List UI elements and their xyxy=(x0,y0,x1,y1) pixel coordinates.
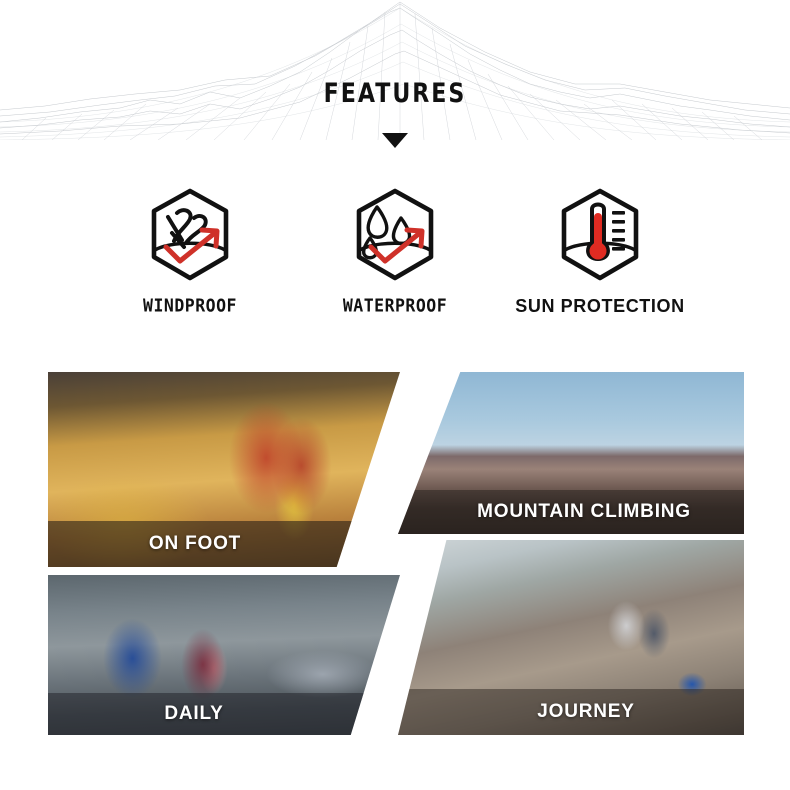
scene-panel-on-foot[interactable]: ON FOOT xyxy=(48,372,400,567)
thermometer-hexagon-icon xyxy=(548,185,652,285)
feature-showcase-page: FEATURES WINDPROOF xyxy=(0,0,790,790)
scene-caption-journey: JOURNEY xyxy=(398,689,744,735)
feature-icon-row: WINDPROOF WATERPROOF xyxy=(0,185,790,325)
scene-panel-mountain-climbing[interactable]: MOUNTAIN CLIMBING xyxy=(398,372,744,534)
scene-panel-journey[interactable]: JOURNEY xyxy=(398,540,744,735)
triangle-down-icon xyxy=(382,133,408,148)
feature-sun-protection: SUN PROTECTION xyxy=(498,185,703,317)
wireframe-mountain-mesh-icon xyxy=(0,0,790,140)
feature-label-sun-protection: SUN PROTECTION xyxy=(515,296,684,317)
scene-panel-daily[interactable]: DAILY xyxy=(48,575,400,735)
feature-label-waterproof: WATERPROOF xyxy=(343,295,447,315)
page-title: FEATURES xyxy=(71,78,719,109)
usage-scene-grid: ON FOOT MOUNTAIN CLIMBING DAILY JOURNEY xyxy=(0,362,790,742)
scene-caption-on-foot: ON FOOT xyxy=(48,521,400,567)
water-droplet-hexagon-icon xyxy=(343,185,447,285)
scene-caption-mountain-climbing: MOUNTAIN CLIMBING xyxy=(398,490,744,534)
feature-waterproof: WATERPROOF xyxy=(293,185,498,315)
hero-section: FEATURES xyxy=(0,0,790,175)
feature-windproof: WINDPROOF xyxy=(88,185,293,315)
wind-hexagon-icon xyxy=(138,185,242,285)
feature-label-windproof: WINDPROOF xyxy=(143,295,237,315)
scene-caption-daily: DAILY xyxy=(48,693,400,735)
